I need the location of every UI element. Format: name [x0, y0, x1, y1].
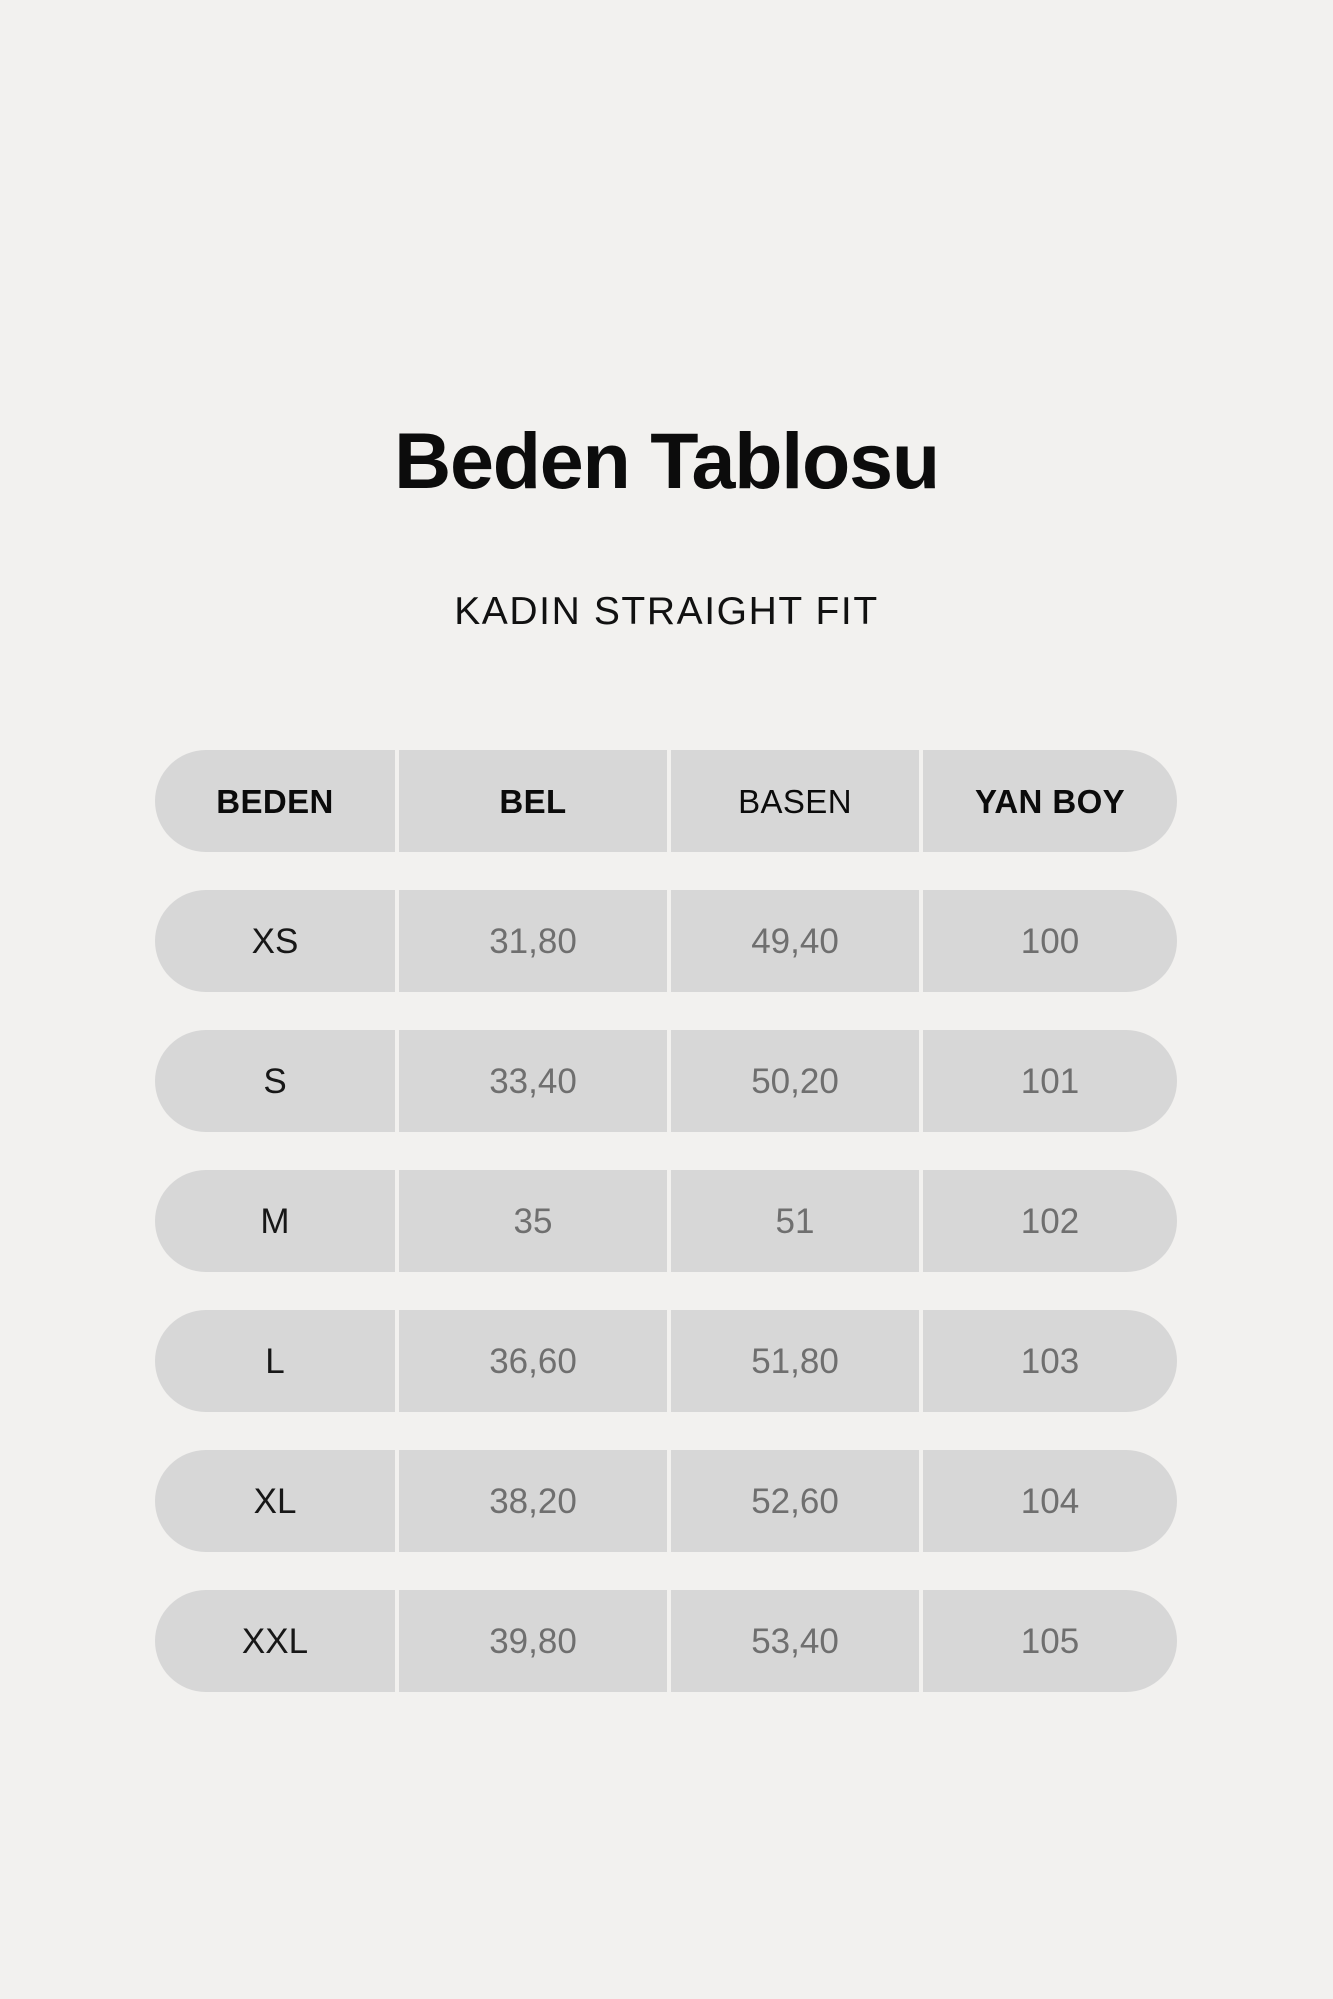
cell-basen: 51,80 [667, 1310, 919, 1412]
size-chart-page: Beden Tablosu KADIN STRAIGHT FIT BEDEN B… [0, 0, 1333, 1999]
page-title: Beden Tablosu [0, 421, 1333, 500]
cell-yan-boy: 100 [919, 890, 1177, 992]
size-table: BEDEN BEL BASEN YAN BOY XS 31,80 49,40 1… [155, 750, 1177, 1692]
cell-bel: 33,40 [395, 1030, 667, 1132]
column-header-beden: BEDEN [155, 750, 395, 852]
cell-yan-boy: 103 [919, 1310, 1177, 1412]
cell-size: XXL [155, 1590, 395, 1692]
cell-size: XS [155, 890, 395, 992]
cell-bel: 39,80 [395, 1590, 667, 1692]
cell-basen: 52,60 [667, 1450, 919, 1552]
cell-bel: 36,60 [395, 1310, 667, 1412]
cell-bel: 35 [395, 1170, 667, 1272]
cell-yan-boy: 102 [919, 1170, 1177, 1272]
column-header-basen: BASEN [667, 750, 919, 852]
table-row: M 35 51 102 [155, 1170, 1177, 1272]
cell-basen: 51 [667, 1170, 919, 1272]
cell-yan-boy: 104 [919, 1450, 1177, 1552]
table-header-row: BEDEN BEL BASEN YAN BOY [155, 750, 1177, 852]
cell-bel: 38,20 [395, 1450, 667, 1552]
table-row: S 33,40 50,20 101 [155, 1030, 1177, 1132]
cell-size: XL [155, 1450, 395, 1552]
cell-yan-boy: 101 [919, 1030, 1177, 1132]
table-row: L 36,60 51,80 103 [155, 1310, 1177, 1412]
page-subtitle: KADIN STRAIGHT FIT [0, 592, 1333, 631]
table-row: XXL 39,80 53,40 105 [155, 1590, 1177, 1692]
cell-basen: 49,40 [667, 890, 919, 992]
table-row: XL 38,20 52,60 104 [155, 1450, 1177, 1552]
table-row: XS 31,80 49,40 100 [155, 890, 1177, 992]
cell-bel: 31,80 [395, 890, 667, 992]
cell-basen: 50,20 [667, 1030, 919, 1132]
cell-size: S [155, 1030, 395, 1132]
column-header-bel: BEL [395, 750, 667, 852]
cell-size: L [155, 1310, 395, 1412]
cell-yan-boy: 105 [919, 1590, 1177, 1692]
cell-basen: 53,40 [667, 1590, 919, 1692]
column-header-yan-boy: YAN BOY [919, 750, 1177, 852]
cell-size: M [155, 1170, 395, 1272]
